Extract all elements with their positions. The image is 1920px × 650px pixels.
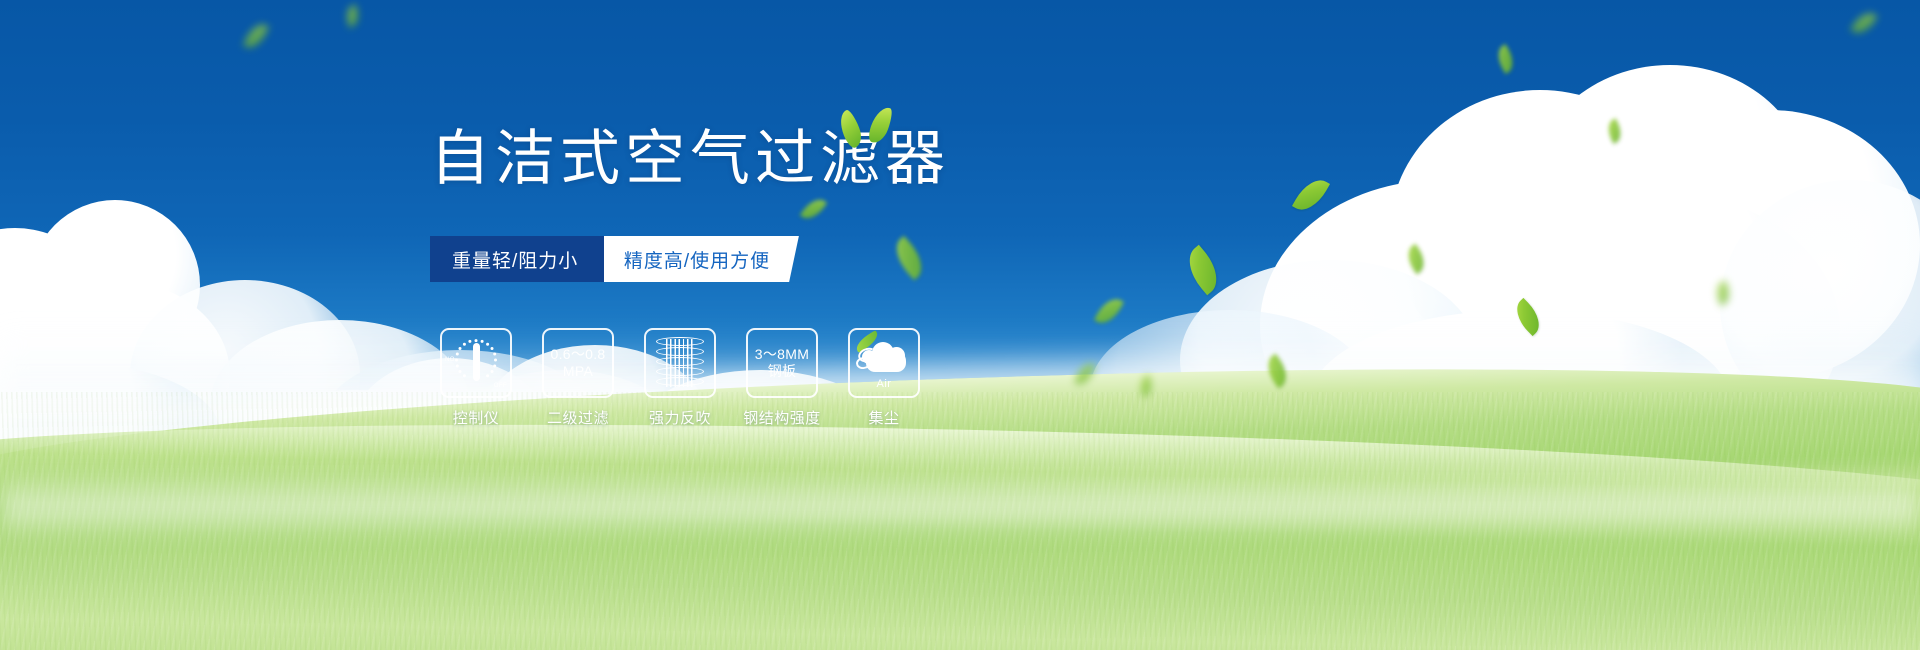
leaf-icon	[836, 108, 866, 150]
feature-label: 强力反吹	[649, 407, 711, 428]
feature-list: NO OFF 控制仪 0.6～0.8 MPA 二级过滤	[438, 328, 922, 428]
feature-item-pressure[interactable]: 0.6～0.8 MPA 二级过滤	[540, 328, 616, 428]
dial-lever-icon	[473, 343, 480, 381]
feature-label: 钢结构强度	[743, 407, 821, 428]
air-caption: Air	[856, 378, 912, 390]
tag-bar: 重量轻/阻力小 精度高/使用方便	[430, 236, 795, 282]
control-dial-icon: NO OFF	[446, 335, 506, 391]
pressure-unit-text: MPA	[563, 363, 593, 380]
filter-coil-icon	[656, 337, 704, 389]
feature-label: 控制仪	[453, 407, 500, 428]
leaf-icon	[866, 104, 895, 146]
steel-material-text: 钢板	[768, 363, 797, 380]
cloud-body-icon	[866, 350, 906, 372]
feature-item-steel[interactable]: 3～8MM 钢板 钢结构强度	[744, 328, 820, 428]
feature-label: 集尘	[868, 407, 899, 428]
feature-icon-box	[644, 328, 716, 398]
feature-icon-box: 3～8MM 钢板	[746, 328, 818, 398]
feature-icon-box: NO OFF	[440, 328, 512, 398]
banner-content: 自洁式空气过滤器 重量轻/阻力小 精度高/使用方便	[0, 0, 1920, 650]
feature-label: 二级过滤	[547, 407, 609, 428]
feature-item-dust[interactable]: Air 集尘	[846, 328, 922, 428]
title-leaf-decoration	[838, 104, 898, 148]
feature-item-control[interactable]: NO OFF 控制仪	[438, 328, 514, 428]
feature-icon-box: Air	[848, 328, 920, 398]
tag-primary: 重量轻/阻力小	[430, 236, 604, 282]
pressure-range-text: 0.6～0.8	[550, 346, 605, 363]
steel-thickness-text: 3～8MM	[755, 346, 809, 363]
tag-secondary: 精度高/使用方便	[585, 236, 799, 282]
air-cloud-icon: Air	[856, 338, 912, 388]
dial-on-label: NO	[445, 357, 455, 363]
feature-item-backwash[interactable]: 强力反吹	[642, 328, 718, 428]
dial-off-label: OFF	[494, 383, 507, 389]
feature-icon-box: 0.6～0.8 MPA	[542, 328, 614, 398]
banner-stage: 自洁式空气过滤器 重量轻/阻力小 精度高/使用方便	[0, 0, 1920, 650]
tag-secondary-label: 精度高/使用方便	[624, 246, 770, 273]
